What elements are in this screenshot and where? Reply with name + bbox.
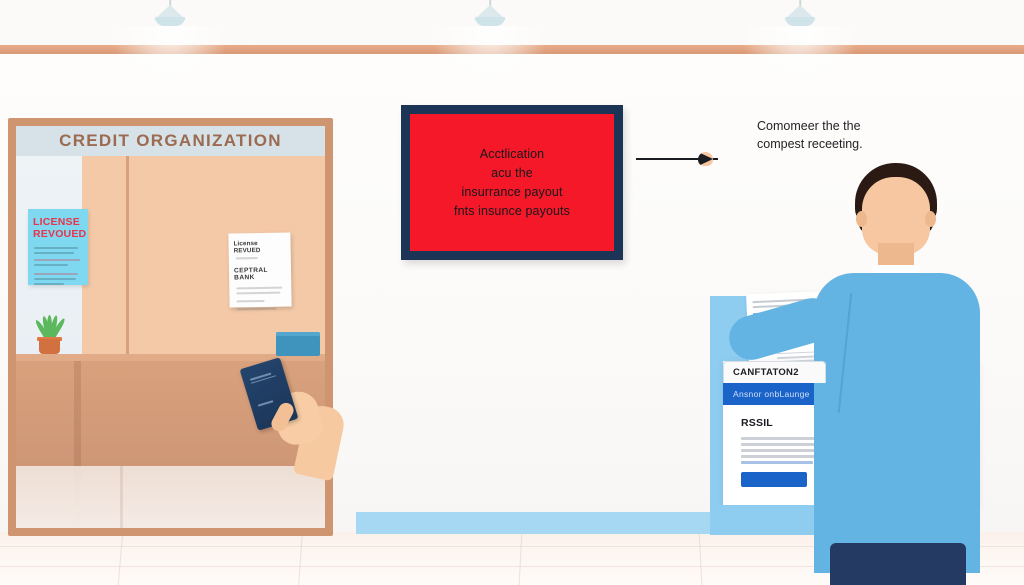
ceiling-lamp-center-icon bbox=[467, 0, 513, 30]
browser-navbar-label: Ansnor onbLaunge bbox=[733, 389, 810, 399]
counter-glass-divider bbox=[120, 466, 123, 528]
caption-line1: Comomeer the the bbox=[757, 117, 952, 135]
license-revoked-poster: LICENSE REVOUED bbox=[28, 209, 88, 285]
warning-sign: Acctlication acu the insurrance payout f… bbox=[401, 105, 623, 260]
caption-line2: compest receeting. bbox=[757, 135, 952, 153]
poster-title-line2: REVOUED bbox=[33, 229, 83, 240]
booth-sign: CREDIT ORGANIZATION bbox=[16, 126, 325, 156]
warning-line-1: Acctlication bbox=[480, 146, 544, 162]
ceiling-lamp-right-icon bbox=[777, 0, 823, 30]
warning-line-2: acu the bbox=[491, 165, 533, 181]
door-notice-paper: License REVUED CEPTRAL BANK bbox=[228, 232, 291, 307]
notice-line2: CEPTRAL BANK bbox=[234, 267, 286, 282]
ceiling-trim bbox=[0, 45, 1024, 54]
warning-sign-inner: Acctlication acu the insurrance payout f… bbox=[410, 114, 614, 251]
ceiling-lamp-left-icon bbox=[147, 0, 193, 30]
customer-back-view bbox=[800, 155, 990, 585]
torso-shirt bbox=[814, 273, 980, 573]
notice-line1: License REVUED bbox=[233, 240, 285, 255]
flow-arrow-icon bbox=[636, 152, 732, 166]
illustration-scene: CREDIT ORGANIZATION LICENSE REVOUED bbox=[0, 0, 1024, 585]
booth-sign-label: CREDIT ORGANIZATION bbox=[59, 131, 282, 151]
hand-holding-passport bbox=[246, 362, 336, 482]
passport-icon bbox=[240, 357, 299, 430]
blue-box-on-counter bbox=[276, 332, 320, 356]
browser-tab[interactable]: CANFTATON2 bbox=[723, 361, 826, 383]
ear-left bbox=[856, 211, 867, 227]
warning-line-4: fnts insunce payouts bbox=[454, 203, 570, 219]
poster-title-line1: LICENSE bbox=[33, 217, 83, 228]
primary-action-button[interactable] bbox=[741, 472, 807, 487]
door-seam bbox=[126, 156, 129, 361]
ear-right bbox=[925, 211, 936, 227]
caption-block: Comomeer the the compest receeting. bbox=[757, 117, 952, 153]
trousers bbox=[830, 543, 966, 585]
potted-plant-icon bbox=[30, 310, 68, 354]
warning-line-3: insurrance payout bbox=[461, 184, 562, 200]
browser-tab-label: CANFTATON2 bbox=[733, 367, 799, 378]
